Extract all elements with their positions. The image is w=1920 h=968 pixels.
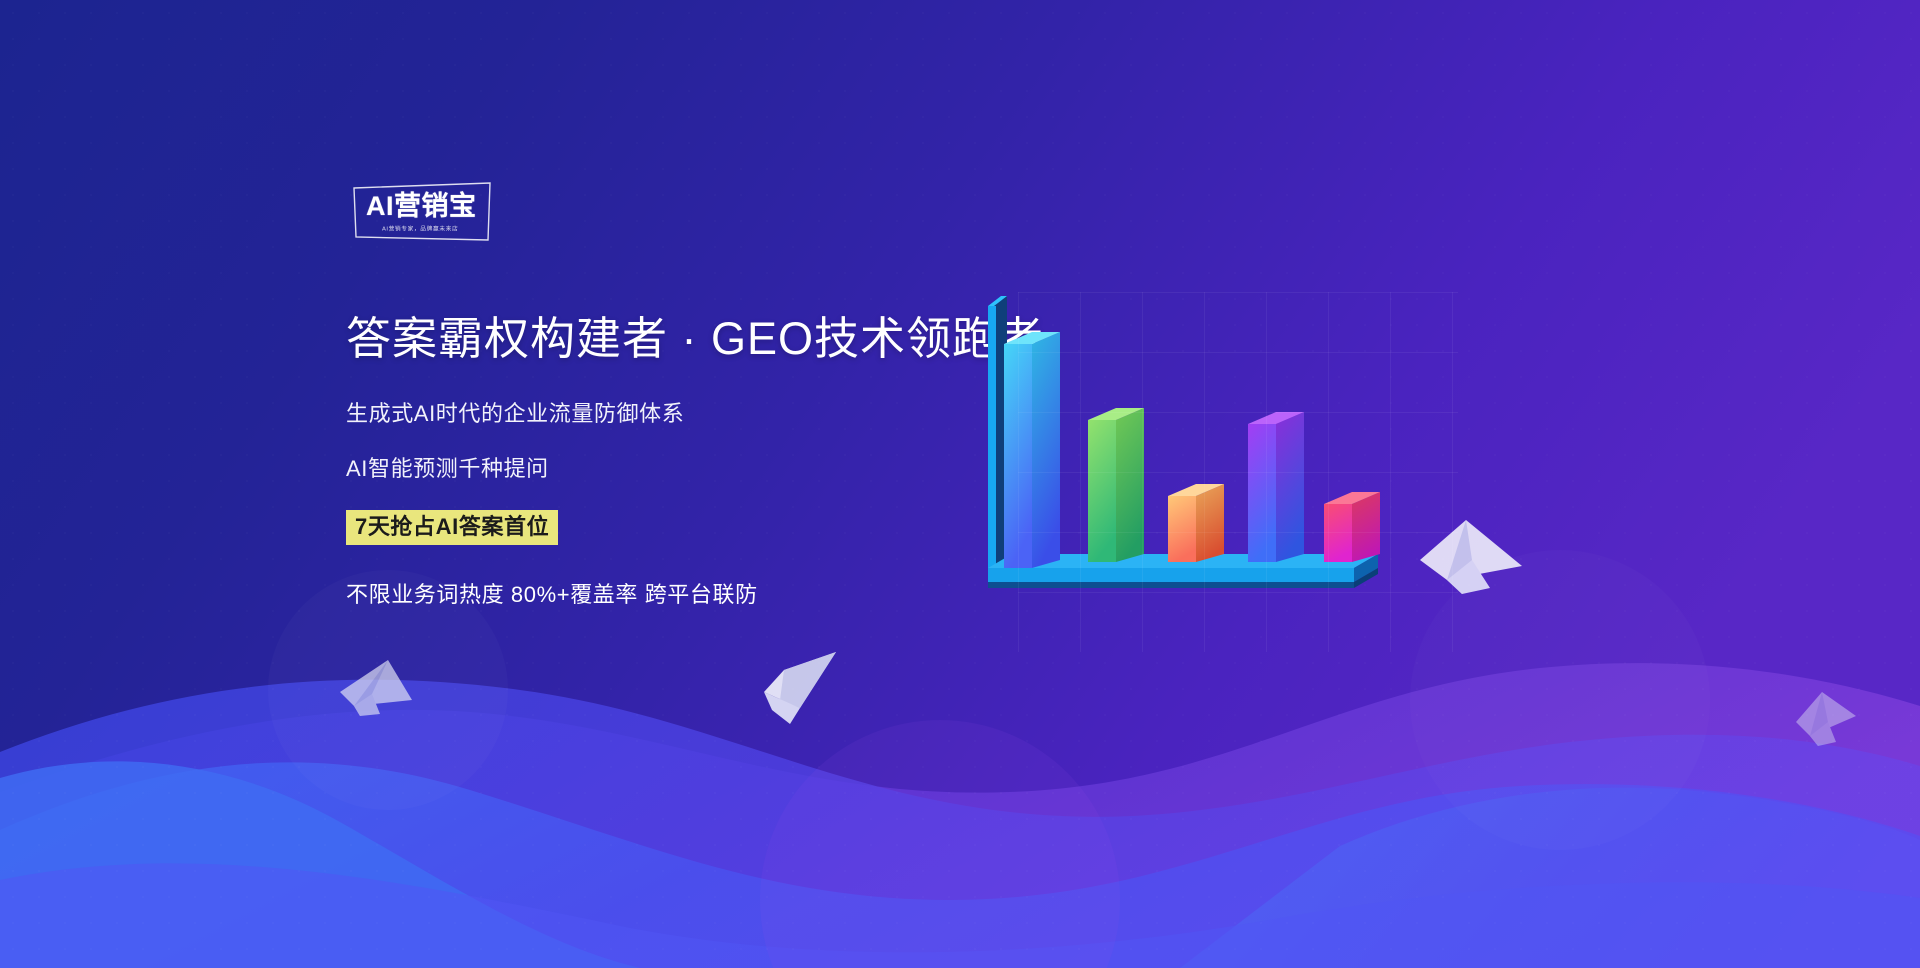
hero-banner: AI营销宝 AI营销专家，品牌赢未来店 答案霸权构建者 · GEO技术领跑者 生… [0,0,1920,968]
hero-subtitle-2: AI智能预测千种提问 [346,458,986,480]
hero-highlight-badge: 7天抢占AI答案首位 [346,510,558,545]
logo-wordmark: AI营销宝 [366,193,477,220]
hero-subtitle-1: 生成式AI时代的企业流量防御体系 [346,403,986,425]
hero-highlight-wrap: 7天抢占AI答案首位 [346,510,986,545]
hero-subtitle-3: 不限业务词热度 80%+覆盖率 跨平台联防 [346,577,986,609]
chart-bar [1088,408,1144,562]
chart-bar [1248,412,1304,562]
chart-bar [1168,484,1224,562]
brand-logo[interactable]: AI营销宝 AI营销专家，品牌赢未来店 [352,182,492,244]
hero-copy: 答案霸权构建者 · GEO技术领跑者 生成式AI时代的企业流量防御体系 AI智能… [346,312,986,609]
logo-tagline: AI营销专家，品牌赢未来店 [382,224,458,233]
chart-svg [988,292,1458,672]
page-title: 答案霸权构建者 · GEO技术领跑者 [346,312,986,365]
bar-chart-illustration [988,292,1458,672]
chart-bar [1004,332,1060,568]
chart-bar [1324,492,1380,562]
